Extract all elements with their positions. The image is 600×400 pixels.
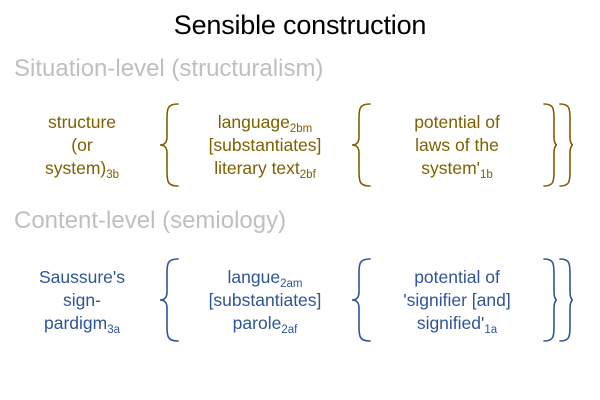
cell-line-text: parole (233, 313, 282, 333)
cell-line: (or (6, 134, 158, 157)
slide-canvas: Sensible construction Situation-level (s… (0, 0, 600, 400)
cell-content-first: Saussure's sign- pardigm3a (6, 266, 158, 335)
curly-brace-open-icon (158, 257, 180, 343)
cell-line: Saussure's (6, 266, 158, 289)
page-title: Sensible construction (0, 8, 600, 42)
cell-line-text: literary text (214, 158, 300, 178)
section-heading-situation-level: Situation-level (structuralism) (14, 54, 323, 84)
curly-brace-close-icon (558, 257, 574, 343)
cell-line: potential of (372, 111, 542, 134)
cell-line: 'signifier [and] (372, 289, 542, 312)
cell-line: pardigm3a (6, 312, 158, 335)
cell-line: system)3b (6, 157, 158, 180)
cell-content-third: potential of 'signifier [and] signified'… (372, 266, 542, 335)
cell-line: parole2af (180, 312, 350, 335)
cell-line: [substantiates] (180, 289, 350, 312)
closing-brace-group (542, 102, 574, 188)
cell-line: signified'1a (372, 312, 542, 335)
cell-line-text: langue (228, 267, 281, 287)
cell-line: language2bm (180, 111, 350, 134)
curly-brace-close-icon (542, 257, 558, 343)
curly-brace-close-icon (542, 102, 558, 188)
cell-line: laws of the (372, 134, 542, 157)
cell-line: sign- (6, 289, 158, 312)
closing-brace-group (542, 257, 574, 343)
cell-situation-second: language2bm [substantiates] literary tex… (180, 111, 350, 180)
cell-content-second: langue2am [substantiates] parole2af (180, 266, 350, 335)
cell-line-text: signified' (417, 313, 485, 333)
curly-brace-open-icon (158, 102, 180, 188)
curly-brace-open-icon (350, 257, 372, 343)
cell-line: literary text2bf (180, 157, 350, 180)
curly-brace-close-icon (558, 102, 574, 188)
cell-line: structure (6, 111, 158, 134)
section-heading-content-level: Content-level (semiology) (14, 206, 286, 236)
cell-line: potential of (372, 266, 542, 289)
cell-subscript: 1a (484, 324, 497, 336)
cell-line: langue2am (180, 266, 350, 289)
cell-line-text: system) (45, 158, 106, 178)
cell-line: system'1b (372, 157, 542, 180)
cell-subscript: 3a (107, 324, 120, 336)
cell-subscript: 2bm (290, 123, 312, 135)
cell-situation-third: potential of laws of the system'1b (372, 111, 542, 180)
cell-subscript: 1b (480, 169, 493, 181)
cell-line: [substantiates] (180, 134, 350, 157)
cell-line-text: system' (421, 158, 480, 178)
cell-subscript: 2bf (300, 169, 316, 181)
cell-situation-first: structure (or system)3b (6, 111, 158, 180)
cell-subscript: 2am (280, 278, 302, 290)
cell-line-text: pardigm (44, 313, 107, 333)
row-situation-level: structure (or system)3b language2bm [sub… (0, 95, 600, 195)
cell-line-text: language (218, 112, 290, 132)
row-content-level: Saussure's sign- pardigm3a langue2am [su… (0, 250, 600, 350)
curly-brace-open-icon (350, 102, 372, 188)
cell-subscript: 2af (281, 324, 297, 336)
cell-subscript: 3b (106, 169, 119, 181)
